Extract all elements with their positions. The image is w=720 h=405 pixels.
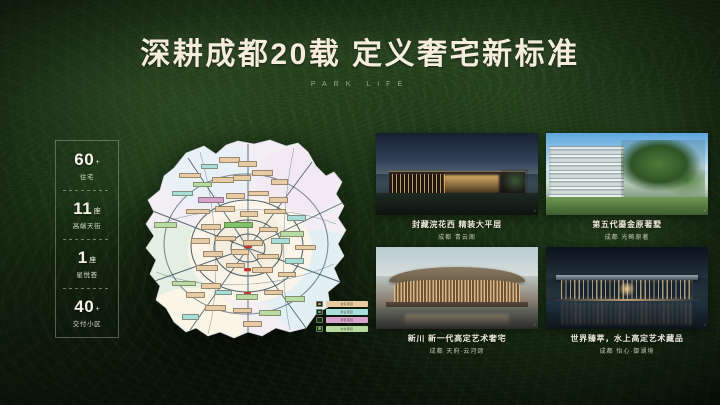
map-chip[interactable] bbox=[285, 296, 305, 302]
project-photo[interactable]: © bbox=[376, 247, 538, 329]
map-chip[interactable] bbox=[243, 321, 262, 327]
map-chip[interactable] bbox=[154, 222, 177, 228]
project-location: 成都 光畴原著 bbox=[546, 232, 708, 241]
map-chip[interactable] bbox=[186, 292, 205, 298]
card-yuhujing[interactable]: ©世界臻萃，水上高定艺术藏品成都 怡心·御湖境 bbox=[546, 247, 708, 355]
stat-value-row: 60+ bbox=[74, 151, 100, 168]
map-chip[interactable] bbox=[219, 157, 239, 163]
map-chip[interactable] bbox=[191, 238, 210, 244]
header: 深耕成都20载 定义奢宅新标准 PARK LIFE bbox=[0, 38, 720, 88]
project-photo[interactable]: © bbox=[546, 247, 708, 329]
project-location: 成都 青云阁 bbox=[376, 232, 538, 241]
map-chip[interactable] bbox=[172, 191, 192, 197]
legend-row-1[interactable]: 商业项目 bbox=[316, 309, 368, 315]
map-chip[interactable] bbox=[271, 179, 288, 185]
stat-unit: 座 bbox=[94, 208, 101, 215]
map-chip[interactable] bbox=[186, 209, 209, 215]
stat-value-row: 40+ bbox=[74, 298, 100, 315]
map-chip[interactable] bbox=[224, 222, 253, 228]
project-location: 成都 天府·云河颂 bbox=[376, 346, 538, 355]
map-chip[interactable] bbox=[252, 267, 272, 273]
stat-unit: + bbox=[96, 306, 100, 313]
stat-value: 11 bbox=[73, 200, 92, 217]
project-caption: 封藏浣花西 精装大平层成都 青云阁 bbox=[376, 215, 538, 242]
map-chip[interactable] bbox=[215, 206, 235, 212]
map-chip[interactable] bbox=[205, 305, 225, 311]
map-chip[interactable] bbox=[259, 310, 281, 316]
legend-dot-icon bbox=[316, 301, 323, 307]
page-subtitle: PARK LIFE bbox=[0, 81, 720, 88]
map-chip[interactable] bbox=[285, 258, 304, 264]
map-chip[interactable] bbox=[259, 227, 278, 233]
map-chip[interactable] bbox=[215, 290, 232, 296]
legend-dot-icon bbox=[316, 326, 323, 332]
map-chip[interactable] bbox=[226, 193, 245, 199]
page-title: 深耕成都20载 定义奢宅新标准 bbox=[0, 38, 720, 71]
map-chip[interactable] bbox=[278, 272, 295, 278]
legend-label: 待售项目 bbox=[326, 317, 369, 323]
stat-value-row: 11座 bbox=[73, 200, 100, 217]
project-location: 成都 怡心·御湖境 bbox=[546, 346, 708, 355]
map-chip[interactable] bbox=[243, 240, 263, 246]
card-yunhesong[interactable]: ©新川 新一代高定艺术奢宅成都 天府·云河颂 bbox=[376, 247, 538, 355]
map-chip[interactable] bbox=[215, 236, 237, 242]
map-chip[interactable] bbox=[198, 197, 224, 203]
legend-label: 商业项目 bbox=[326, 309, 369, 315]
stat-label: 交付小区 bbox=[73, 318, 101, 328]
legend-dot-icon bbox=[316, 317, 323, 323]
stats-panel: 60+住宅11座高端天街1座星悦荟40+交付小区 bbox=[55, 140, 119, 338]
project-title: 第五代鎏金原著墅 bbox=[546, 219, 708, 230]
stat-label: 星悦荟 bbox=[76, 269, 97, 279]
map-chip[interactable] bbox=[231, 249, 248, 255]
map-chip[interactable] bbox=[248, 191, 270, 197]
project-card-grid: ©封藏浣花西 精装大平层成都 青云阁©第五代鎏金原著墅成都 光畴原著©新川 新一… bbox=[376, 133, 708, 355]
project-caption: 第五代鎏金原著墅成都 光畴原著 bbox=[546, 215, 708, 242]
stat-item-2: 1座星悦荟 bbox=[56, 239, 118, 288]
legend-dot-icon bbox=[316, 309, 323, 315]
map-chip[interactable] bbox=[233, 308, 252, 314]
legend-row-0[interactable]: 住宅项目 bbox=[316, 301, 368, 307]
watermark: © bbox=[534, 324, 536, 327]
legend-label: 交付项目 bbox=[326, 326, 369, 332]
map-chip[interactable] bbox=[193, 182, 212, 188]
stat-unit: 座 bbox=[89, 257, 96, 264]
map-chip[interactable] bbox=[212, 177, 234, 183]
watermark: © bbox=[704, 324, 706, 327]
stat-value: 40 bbox=[74, 298, 94, 315]
legend-label: 住宅项目 bbox=[326, 301, 369, 307]
map-chip[interactable] bbox=[295, 245, 317, 251]
map-chip[interactable] bbox=[252, 170, 272, 176]
watermark: © bbox=[534, 210, 536, 213]
map-legend: 住宅项目商业项目待售项目交付项目 bbox=[316, 301, 368, 332]
project-title: 世界臻萃，水上高定艺术藏品 bbox=[546, 333, 708, 344]
map-chip[interactable] bbox=[257, 254, 279, 260]
slide-root: 深耕成都20载 定义奢宅新标准 PARK LIFE 60+住宅11座高端天街1座… bbox=[0, 0, 720, 405]
map-chip[interactable] bbox=[201, 224, 221, 230]
map-chip[interactable] bbox=[179, 173, 201, 179]
map-chip[interactable] bbox=[240, 211, 257, 217]
stat-value: 1 bbox=[78, 249, 88, 266]
stat-item-3: 40+交付小区 bbox=[56, 288, 118, 337]
map-chip[interactable] bbox=[233, 175, 250, 181]
map-chip[interactable] bbox=[269, 197, 288, 203]
project-photo[interactable]: © bbox=[376, 133, 538, 215]
project-photo[interactable]: © bbox=[546, 133, 708, 215]
card-qingyunge[interactable]: ©封藏浣花西 精装大平层成都 青云阁 bbox=[376, 133, 538, 241]
stat-item-0: 60+住宅 bbox=[56, 141, 118, 190]
map-chip[interactable] bbox=[201, 164, 218, 170]
watermark: © bbox=[704, 210, 706, 213]
project-title: 封藏浣花西 精装大平层 bbox=[376, 219, 538, 230]
stat-label: 高端天街 bbox=[73, 220, 101, 230]
map-chip[interactable] bbox=[238, 161, 257, 167]
project-caption: 新川 新一代高定艺术奢宅成都 天府·云河颂 bbox=[376, 329, 538, 356]
project-caption: 世界臻萃，水上高定艺术藏品成都 怡心·御湖境 bbox=[546, 329, 708, 356]
stat-value: 60 bbox=[74, 151, 94, 168]
map-chip[interactable] bbox=[287, 215, 306, 221]
map-chip[interactable] bbox=[203, 251, 223, 257]
map-chip[interactable] bbox=[271, 238, 290, 244]
card-guangchou[interactable]: ©第五代鎏金原著墅成都 光畴原著 bbox=[546, 133, 708, 241]
map-chip[interactable] bbox=[280, 231, 303, 237]
legend-row-2[interactable]: 待售项目 bbox=[316, 317, 368, 323]
map-chip[interactable] bbox=[264, 290, 283, 296]
stat-unit: + bbox=[96, 159, 100, 166]
stat-value-row: 1座 bbox=[78, 249, 96, 266]
project-title: 新川 新一代高定艺术奢宅 bbox=[376, 333, 538, 344]
map-chip[interactable] bbox=[182, 314, 199, 320]
map-chip[interactable] bbox=[172, 281, 195, 287]
map-chip[interactable] bbox=[226, 263, 245, 269]
stat-item-1: 11座高端天街 bbox=[56, 190, 118, 239]
stat-label: 住宅 bbox=[80, 171, 94, 181]
legend-row-3[interactable]: 交付项目 bbox=[316, 326, 368, 332]
map-chip[interactable] bbox=[236, 294, 258, 300]
map-chip[interactable] bbox=[201, 283, 221, 289]
map-chip[interactable] bbox=[196, 265, 218, 271]
map-chip[interactable] bbox=[264, 209, 286, 215]
